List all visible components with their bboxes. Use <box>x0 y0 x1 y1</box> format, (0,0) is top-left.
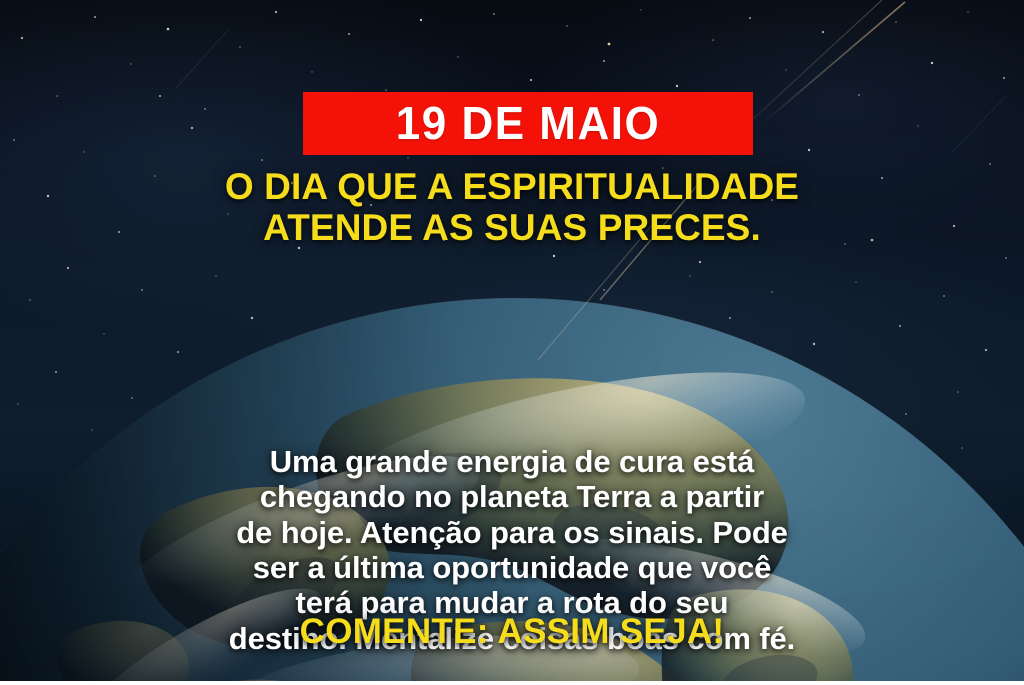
body-line-4: ser a última oportunidade que você <box>50 550 974 585</box>
body-line-3: de hoje. Atenção para os sinais. Pode <box>50 515 974 550</box>
headline-line-2: ATENDE AS SUAS PRECES. <box>0 207 1024 248</box>
poster-content: 19 DE MAIO O DIA QUE A ESPIRITUALIDADE A… <box>0 0 1024 685</box>
headline-line-1: O DIA QUE A ESPIRITUALIDADE <box>0 166 1024 207</box>
call-to-action-text: COMENTE: ASSIM SEJA! <box>0 614 1024 649</box>
date-banner-text: 19 DE MAIO <box>396 100 660 147</box>
headline: O DIA QUE A ESPIRITUALIDADE ATENDE AS SU… <box>0 166 1024 249</box>
date-banner: 19 DE MAIO <box>303 92 753 155</box>
body-line-2: chegando no planeta Terra a partir <box>50 479 974 514</box>
body-line-1: Uma grande energia de cura está <box>50 444 974 479</box>
poster-canvas: 19 DE MAIO O DIA QUE A ESPIRITUALIDADE A… <box>0 0 1024 685</box>
bottom-border-strip <box>0 681 1024 685</box>
